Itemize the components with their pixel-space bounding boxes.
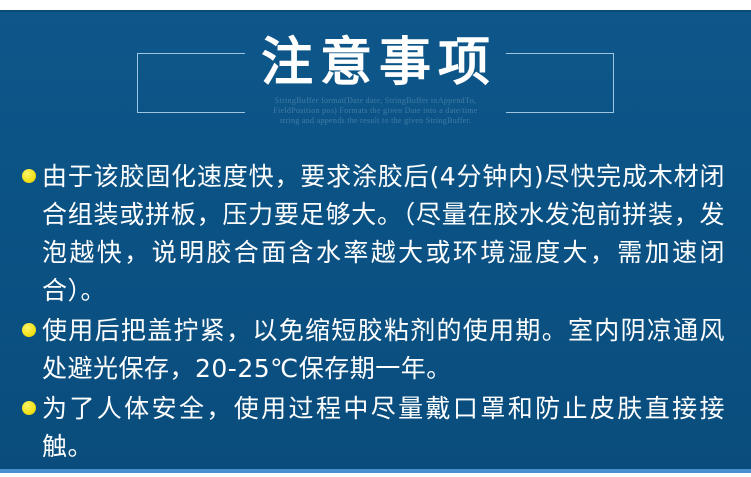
subtitle-line-2: FieldPosition pos) Formats the given Dat… [0,106,751,116]
notice-list: 由于该胶固化速度快，要求涂胶后(4分钟内)尽快完成木材闭合组装或拼板，压力要足够… [0,158,751,468]
subtitle-line-3: string and appends the result to the giv… [0,116,751,126]
list-item-text: 使用后把盖拧紧，以免缩短胶粘剂的使用期。室内阴凉通风处避光保存，20-25℃保存… [42,312,725,388]
list-item: 使用后把盖拧紧，以免缩短胶粘剂的使用期。室内阴凉通风处避光保存，20-25℃保存… [0,312,751,388]
top-white-strip [0,0,751,10]
bullet-dot-icon [22,323,36,337]
bottom-accent-strip [0,469,751,473]
list-item: 为了人体安全，使用过程中尽量戴口罩和防止皮肤直接接触。 [0,390,751,466]
list-item: 由于该胶固化速度快，要求涂胶后(4分钟内)尽快完成木材闭合组装或拼板，压力要足够… [0,158,751,310]
bullet-dot-icon [22,401,36,415]
blue-panel: 注意事项 StringBuffer format(Date date, Stri… [0,10,751,473]
list-item-text: 为了人体安全，使用过程中尽量戴口罩和防止皮肤直接接触。 [42,390,725,466]
subtitle-watermark: StringBuffer format(Date date, StringBuf… [0,96,751,126]
page-title: 注意事项 [0,32,751,94]
poster-header: 注意事项 StringBuffer format(Date date, Stri… [0,10,751,145]
bullet-dot-icon [22,169,36,183]
subtitle-line-1: StringBuffer format(Date date, StringBuf… [0,96,751,106]
list-item-text: 由于该胶固化速度快，要求涂胶后(4分钟内)尽快完成木材闭合组装或拼板，压力要足够… [42,158,725,310]
notice-poster: 注意事项 StringBuffer format(Date date, Stri… [0,0,751,477]
